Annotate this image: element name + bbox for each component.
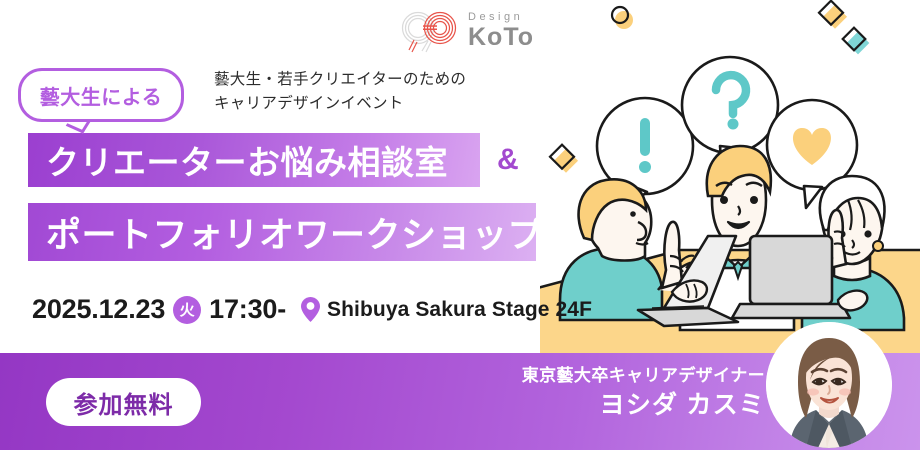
event-info-row: 2025.12.23 火 17:30- Shibuya Sakura Stage…: [32, 294, 592, 325]
title-bar-1-text: クリエーターお悩み相談室: [46, 136, 448, 184]
speaker-portrait: [766, 322, 892, 448]
title-bar-2: ポートフォリオワークショップ: [28, 203, 536, 261]
event-weekday-label: 火: [180, 299, 195, 320]
title-row-primary: クリエーターお悩み相談室 &: [28, 133, 519, 187]
logo-koto-text: KoTo: [468, 25, 534, 50]
free-admission-label: 参加無料: [74, 385, 174, 420]
title-ampersand: &: [497, 143, 519, 177]
event-time: 17:30-: [209, 294, 286, 325]
logo-design-text: Design: [468, 12, 534, 23]
speaker-name: ヨシダ カスミ: [600, 390, 765, 420]
speaker-info: 東京藝大卒キャリアデザイナー ヨシダ カスミ: [522, 366, 765, 420]
free-admission-badge[interactable]: 参加無料: [46, 378, 201, 426]
audience-badge: 藝大生による: [18, 68, 184, 122]
title-bar-1: クリエーターお悩み相談室: [28, 133, 480, 187]
title-row-secondary: ポートフォリオワークショップ: [28, 203, 536, 261]
design-koto-logo-mark: [398, 8, 460, 54]
event-subtitle: 藝大生・若手クリエイターのための キャリアデザインイベント: [214, 68, 534, 116]
laptop-right: [732, 236, 850, 318]
speaker-role: 東京藝大卒キャリアデザイナー: [522, 366, 765, 386]
title-bar-2-text: ポートフォリオワークショップ: [46, 207, 543, 258]
brand-logo[interactable]: Design KoTo: [398, 8, 534, 54]
audience-badge-label: 藝大生による: [40, 81, 162, 110]
event-banner: Design KoTo 藝大生による 藝大生・若手クリエイターのための キャリア…: [0, 0, 920, 450]
event-weekday-badge: 火: [173, 296, 201, 324]
subtitle-line-2: キャリアデザインイベント: [214, 92, 534, 116]
meeting-illustration: [540, 0, 920, 360]
subtitle-line-1: 藝大生・若手クリエイターのための: [214, 68, 534, 92]
map-pin-icon: [300, 296, 321, 323]
event-date: 2025.12.23: [32, 294, 165, 325]
event-venue: Shibuya Sakura Stage 24F: [327, 298, 592, 322]
logo-wordmark: Design KoTo: [468, 12, 534, 50]
